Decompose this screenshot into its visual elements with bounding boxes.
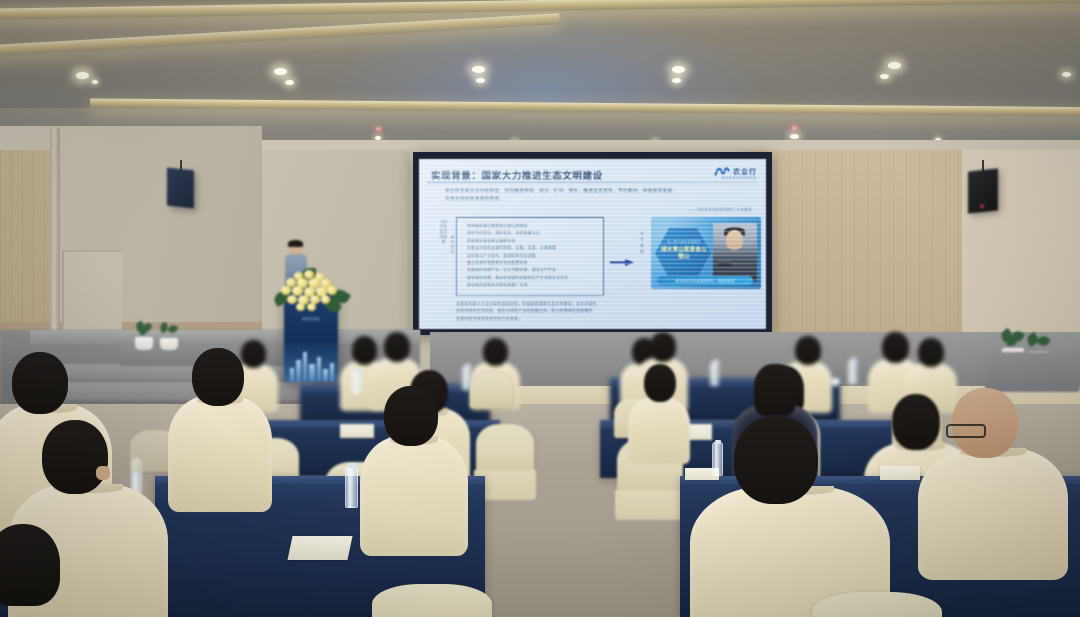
attendee-head (192, 348, 244, 406)
bank-logo-sublabel: NONGYEHANG (722, 176, 757, 180)
water-bottle (345, 466, 358, 508)
plant-leaf (140, 327, 147, 335)
attendee (918, 388, 1068, 574)
attendee (0, 524, 96, 617)
conference-room-photo: 实现背景：国家大力推进生态文明建设 农业行 NONGYEHANG 要加快发展方式… (0, 0, 1080, 617)
ceiling-downlight (285, 80, 294, 85)
slide-footer-line: 金融机构要大力支持绿色低碳转型，积极服务国家生态文明建设，加大对绿色 (456, 300, 634, 307)
attendee-head (795, 336, 821, 365)
slide-quote-line: 完善支持绿色发展的政策。 (445, 195, 755, 203)
attendee-head (483, 338, 508, 366)
attendee-ear (96, 466, 110, 480)
slide-bullet: 推动绿色低碳技术研发和推广应用 (467, 282, 599, 289)
notepad (287, 536, 352, 560)
attendee-shirt (168, 396, 272, 512)
skyline-building (317, 357, 321, 382)
attendee-head (384, 386, 438, 446)
ceiling-downlight (274, 68, 287, 75)
ceiling-indicator-light (792, 126, 797, 130)
slide-vertical-label-left: 习近平生态文明思想 (439, 219, 448, 244)
attendee-head (42, 420, 108, 494)
slide-bullet: 坚持节约优先、保护优先、自然恢复为主 (467, 230, 599, 237)
attendee-head (918, 338, 944, 367)
flower (287, 295, 297, 304)
skyline-building (323, 369, 328, 382)
attendee-head (754, 364, 796, 416)
ceiling-downlight (790, 134, 799, 139)
attendee (360, 386, 468, 552)
slide-footer-line: 发展的经济体系和现代化产业体系。 (456, 315, 634, 322)
potted-plant (135, 322, 153, 350)
flower (327, 286, 337, 295)
ceiling-downlight (476, 78, 485, 83)
attendee (628, 364, 690, 460)
water-bottle (848, 360, 857, 384)
ceiling-downlight (888, 62, 901, 69)
flower (296, 303, 305, 311)
bench-sofa (985, 352, 1080, 392)
bottle-cap (851, 358, 857, 362)
speaker-led (980, 204, 984, 208)
podium-skyline-graphic (284, 342, 338, 382)
skyline-building (303, 352, 307, 382)
slide-vertical-label-right: 十个坚持 (638, 231, 646, 255)
attendee-head (650, 332, 676, 362)
slide-vertical-label-inner: 重点任务 (449, 235, 456, 254)
photo-microphone (718, 261, 731, 266)
slide-bullet: 加快推动产业结构、能源结构优化调整 (467, 253, 599, 260)
attendee-head (644, 364, 676, 402)
flower-arrangement (272, 270, 350, 314)
slide-arrow-icon (610, 253, 634, 260)
slide-attribution: ——习近平总书记在党的二十大报告 (688, 207, 752, 213)
bottle-cap (355, 368, 361, 372)
podium-banner-line2: 培训交流会 (287, 316, 335, 321)
chair[interactable] (812, 592, 942, 617)
bottle-cap (713, 360, 719, 364)
left-wall-speaker (167, 168, 194, 209)
right-wall-speaker (968, 168, 998, 213)
slide-bullet: 发展绿色低碳产业，壮大节能环保、清洁生产产业 (467, 267, 599, 274)
attendee (168, 348, 272, 508)
water-bottle (710, 362, 719, 386)
attendee-head (384, 332, 410, 362)
plant-pot (135, 337, 153, 350)
potted-plant (160, 323, 178, 350)
projection-screen-frame: 实现背景：国家大力推进生态文明建设 农业行 NONGYEHANG 要加快发展方式… (413, 152, 772, 335)
slide-quote: 要加快发展方式绿色转型，协同推进降碳、减污、扩绿、增长，推进生态优先、节约集约、… (445, 187, 755, 204)
skyline-building (330, 363, 334, 382)
slide-footer-line: 低碳领域的信贷投放，强化对绿色产业的金融支持，助力构建绿色低碳循环 (456, 307, 634, 314)
skyline-building (290, 368, 294, 382)
chair[interactable] (470, 372, 512, 408)
eyeglasses (946, 424, 986, 438)
attendee (690, 416, 890, 617)
slide-title: 实现背景：国家大力推进生态文明建设 (431, 168, 603, 182)
ceiling-downlight (672, 78, 681, 83)
photo-face (726, 230, 743, 250)
slide-bullet: 坚持绿水青山就是金山银山的理念 (467, 223, 599, 230)
slide-bullet-list: 坚持绿水青山就是金山银山的理念 坚持节约优先、保护优先、自然恢复为主 积极稳妥推… (457, 218, 603, 290)
slide-bullet: 完善支持绿色发展的财税、金融、投资、价格政策 (467, 245, 599, 252)
bottle-cap (348, 463, 357, 468)
plant-leaf (1007, 336, 1017, 346)
ceiling-indicator-light (376, 127, 381, 131)
slide-bullet: 积极稳妥推进碳达峰碳中和 (467, 238, 599, 245)
bank-logo-label: 农业行 (733, 167, 757, 177)
projected-slide: 实现背景：国家大力推进生态文明建设 农业行 NONGYEHANG 要加快发展方式… (419, 159, 766, 329)
plant-leaf (168, 324, 179, 335)
slide-footer: 金融机构要大力支持绿色低碳转型，积极服务国家生态文明建设，加大对绿色 低碳领域的… (456, 300, 634, 322)
ceiling-downlight (76, 72, 89, 79)
chair[interactable] (372, 584, 492, 617)
attendee-head (952, 388, 1018, 458)
attendee-shirt (628, 398, 690, 464)
hexagon-headline: 绿水青山就是金山银山 (660, 247, 708, 262)
flower (321, 295, 330, 304)
attendee-shirt (360, 436, 468, 556)
slide-bullet: 健全资源环境要素市场化配置体系 (467, 260, 599, 267)
attendee-head (0, 524, 60, 606)
ceiling-downlight (92, 80, 98, 84)
presenter-hair (288, 240, 303, 247)
ceiling-downlight (1062, 72, 1071, 77)
attendee-head (734, 416, 818, 504)
skyline-building (309, 364, 315, 382)
slide-bullet: 倡导绿色消费，推动形成绿色低碳的生产方式和生活方式 (467, 275, 599, 282)
attendee-head (12, 352, 68, 414)
tea-cup (830, 378, 840, 386)
slide-bullet-box: 坚持绿水青山就是金山银山的理念 坚持节约优先、保护优先、自然恢复为主 积极稳妥推… (456, 217, 604, 296)
bottle-cap (465, 364, 471, 368)
slide-title-rule (427, 182, 757, 183)
flower (307, 303, 316, 311)
leader-photo (713, 223, 757, 281)
ceiling-downlight (672, 66, 685, 73)
slide-graphic-banner: 推动经济社会发展绿色化、低碳化转型 (657, 276, 753, 285)
hexagon-caption: 深入践行绿色发展理念 (662, 239, 706, 244)
skyline-building (296, 360, 301, 382)
ceiling-downlight (880, 74, 889, 79)
chair-skirt (615, 490, 685, 520)
slide-graphic-panel: 深入践行绿色发展理念 绿水青山就是金山银山 推动经济社会发展绿色化、低碳化转型 (651, 217, 761, 289)
ceiling-downlight (472, 66, 485, 73)
slide-quote-line: 要加快发展方式绿色转型，协同推进降碳、减污、扩绿、增长，推进生态优先、节约集约、… (445, 187, 755, 195)
slide-graphic-banner-label: 推动经济社会发展绿色化、低碳化转型 (675, 278, 734, 283)
flower (281, 286, 291, 295)
attendee-shirt (918, 448, 1068, 580)
plant-leaf (1036, 334, 1051, 348)
chair[interactable] (476, 424, 534, 474)
